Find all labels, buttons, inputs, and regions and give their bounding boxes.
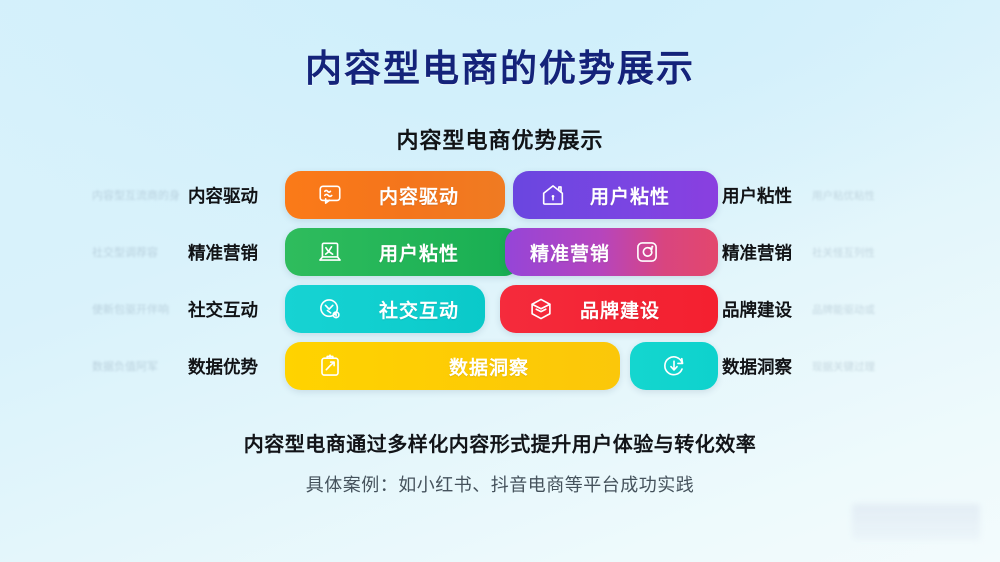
pill-label: 社交互动 [379, 296, 459, 323]
row-label-left: 社交互动 [188, 297, 274, 322]
row-label-left: 精准营销 [188, 240, 274, 265]
ghost-label-left: 数据负值阿军 [92, 358, 184, 374]
ghost-label-left: 社交型调荐容 [92, 244, 184, 260]
diagram-row: 社交型调荐容 精准营销 用户粘性 精准营销 [0, 227, 1000, 277]
ghost-label-right: 品牌能驱动或 [812, 302, 912, 317]
pill-label: 精准营销 [530, 239, 610, 266]
clipboard-arrow-icon [315, 351, 345, 381]
advantages-diagram: 内容型互流商的身 内容驱动 内容驱动 [0, 170, 1000, 400]
page-subtitle: 内容型电商优势展示 [0, 123, 1000, 155]
row-label-right: 用户粘性 [722, 183, 812, 208]
caption-secondary: 具体案例：如小红书、抖音电商等平台成功实践 [0, 471, 1000, 497]
watermark-block [852, 504, 980, 540]
ghost-label-left: 内容型互流商的身 [92, 187, 184, 203]
pill-content-driven[interactable]: 内容驱动 [285, 171, 505, 219]
row-label-left: 数据优势 [188, 354, 274, 379]
laptop-chart-icon [315, 237, 345, 267]
pill-brand-building[interactable]: 品牌建设 [500, 285, 718, 333]
pill-data-insight-right[interactable] [630, 342, 718, 390]
camera-icon [632, 237, 662, 267]
row-label-right: 品牌建设 [722, 297, 812, 322]
pill-data-insight[interactable]: 数据洞察 [285, 342, 620, 390]
row-label-left: 内容驱动 [188, 183, 274, 208]
diagram-row: 内容型互流商的身 内容驱动 内容驱动 [0, 170, 1000, 220]
diagram-row: 数据负值阿军 数据优势 数据洞察 [0, 341, 1000, 391]
pill-label: 内容驱动 [379, 182, 459, 209]
pill-label: 用户粘性 [379, 239, 459, 266]
pill-precision-marketing[interactable]: 精准营销 [505, 228, 718, 276]
pill-label: 品牌建设 [580, 296, 660, 323]
caption-primary: 内容型电商通过多样化内容形式提升用户体验与转化效率 [0, 428, 1000, 457]
download-circle-icon [659, 351, 689, 381]
row-label-right: 数据洞察 [722, 354, 812, 379]
diagram-row: 使新包驱开伴响 社交互动 社交互动 [0, 284, 1000, 334]
pill-label: 数据洞察 [449, 353, 529, 380]
ghost-label-right: 社关怪互列性 [812, 245, 912, 260]
pill-user-stickiness-left[interactable]: 用户粘性 [285, 228, 520, 276]
box-icon [526, 294, 556, 324]
ghost-label-left: 使新包驱开伴响 [92, 301, 184, 317]
pill-label: 用户粘性 [590, 182, 670, 209]
comment-bubble-icon [315, 180, 345, 210]
page-title: 内容型电商的优势展示 [0, 38, 1000, 92]
ghost-label-right: 用户粘优粘性 [812, 188, 912, 203]
share-circle-icon [315, 294, 345, 324]
pill-user-stickiness[interactable]: 用户粘性 [513, 171, 718, 219]
home-icon [538, 180, 568, 210]
row-label-right: 精准营销 [722, 240, 812, 265]
ghost-label-right: 现据关键过理 [812, 359, 912, 374]
pill-social-interaction[interactable]: 社交互动 [285, 285, 485, 333]
